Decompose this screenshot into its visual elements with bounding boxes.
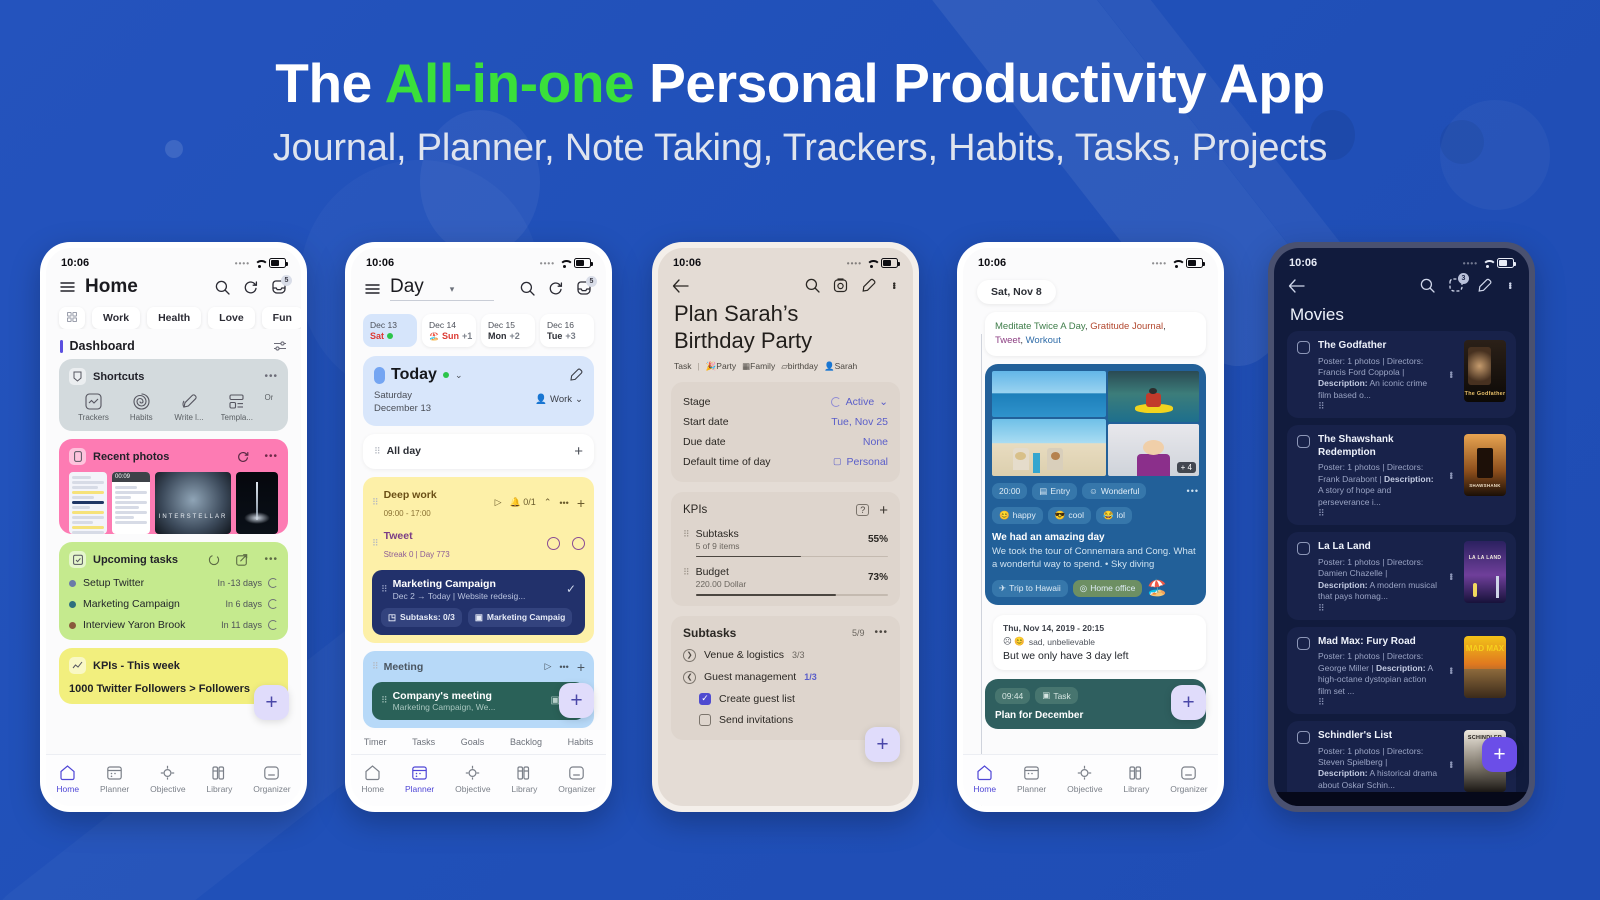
movie-row[interactable]: The Godfather Poster: 1 photos | Directo…	[1287, 331, 1516, 418]
movie-photos: Poster: 1 photos |	[1318, 356, 1384, 366]
inbox-icon[interactable]: 3	[1448, 278, 1464, 293]
emoji-tag[interactable]: 😎 cool	[1048, 507, 1091, 524]
more-options-icon[interactable]: •••	[1446, 761, 1456, 767]
help-icon[interactable]: ?	[856, 504, 869, 516]
photo-thumb[interactable]: 00:09	[112, 472, 150, 534]
screen-planner: 10:06 •••• Day▾ 5 Dec 13 Sat	[351, 248, 606, 806]
open-external-icon[interactable]	[236, 554, 248, 566]
section-accent-bar	[60, 340, 63, 353]
photo-beach[interactable]	[992, 419, 1106, 475]
movies-header: 3 •••	[1274, 272, 1529, 295]
phone-icon	[69, 448, 86, 465]
poster-title: MAD MAX	[1464, 644, 1506, 653]
battery-icon	[269, 258, 286, 268]
subtab-goals[interactable]: Goals	[461, 737, 485, 747]
shortcut-label: Or	[265, 393, 274, 402]
emoji-tag[interactable]: 😂 lol	[1096, 507, 1132, 524]
event-streak: Streak 0 | Day 773	[384, 550, 450, 559]
journal-entry-card-2[interactable]: Thu, Nov 14, 2019 - 20:15 ☹ 😊 sad, unbel…	[993, 615, 1206, 670]
target-icon	[464, 764, 481, 781]
subtask-icon: ◳	[388, 612, 396, 623]
tab-objective[interactable]: Objective	[455, 764, 490, 794]
task-color-dot	[69, 580, 76, 587]
date-pill[interactable]: Dec 14 🏖️Sun+1	[422, 314, 476, 347]
movie-poster[interactable]: SHAWSHANK	[1464, 434, 1506, 496]
sync-icon[interactable]	[243, 280, 258, 295]
marketing-campaign-card[interactable]: ⠿ Marketing Campaign Dec 2 → Today | Web…	[372, 570, 585, 635]
headline-accent: All-in-one	[385, 52, 635, 114]
refresh-icon[interactable]	[237, 451, 249, 463]
more-options-icon[interactable]: •••	[1446, 667, 1456, 673]
drag-handle-icon[interactable]: ⠿	[1318, 700, 1438, 705]
task-progress-icon[interactable]	[268, 578, 278, 588]
beach-emoji-icon: 🏖️	[1147, 578, 1167, 598]
status-bar: 10:06 ••••	[963, 248, 1218, 272]
company-meeting-card[interactable]: ⠿ Company's meeting Marketing Campaign, …	[372, 682, 585, 720]
today-color-pill	[374, 367, 385, 384]
tab-label: Organizer	[1170, 784, 1207, 794]
tab-organizer[interactable]: Organizer	[253, 764, 290, 794]
kpi-sub: 220.00 Dollar	[696, 579, 747, 589]
movie-title: Mad Max: Fury Road	[1318, 636, 1438, 649]
inbox-badge: 5	[281, 275, 292, 286]
drag-handle-icon[interactable]: ⠿	[374, 449, 380, 454]
recent-photos-card[interactable]: Recent photos ••• 00:09 INTERSTELLAR	[59, 439, 288, 534]
add-kpi-icon[interactable]: +	[879, 502, 888, 519]
property-row-due-date[interactable]: Due date None	[683, 432, 888, 452]
more-options-icon[interactable]: •••	[264, 451, 278, 462]
movie-poster[interactable]: MAD MAX	[1464, 636, 1506, 698]
subtab-timer[interactable]: Timer	[364, 737, 387, 747]
meta-type: Task	[674, 361, 691, 371]
menu-icon[interactable]	[365, 283, 380, 295]
status-time: 10:06	[978, 257, 1006, 269]
chip-health[interactable]: Health	[147, 307, 201, 329]
search-icon[interactable]	[215, 280, 230, 295]
more-options-icon[interactable]: •••	[559, 498, 568, 508]
add-all-day-icon[interactable]: +	[574, 443, 583, 460]
status-bar: 10:06 ••••	[658, 248, 913, 272]
task-due: In 11 days	[221, 620, 262, 630]
archive-icon	[1180, 764, 1197, 781]
inbox-badge: 5	[586, 276, 597, 287]
subtask-item-row[interactable]: ✓ Create guest list	[683, 693, 888, 705]
tab-library[interactable]: Library	[206, 764, 232, 794]
checkbox-unchecked[interactable]	[1297, 731, 1310, 744]
entry-location-row[interactable]: ✈Trip to Hawaii ◎Home office 🏖️	[992, 578, 1199, 598]
section-title: Dashboard	[70, 339, 135, 353]
today-tag[interactable]: 👤Work⌄	[535, 394, 583, 405]
habit-toggle-icon[interactable]	[547, 537, 560, 550]
sync-icon[interactable]	[548, 281, 563, 296]
task-name: Interview Yaron Brook	[83, 619, 185, 631]
tab-organizer[interactable]: Organizer	[1170, 764, 1207, 794]
all-day-row[interactable]: ⠿ All day +	[363, 434, 594, 469]
add-icon[interactable]: +	[577, 495, 585, 511]
inbox-icon[interactable]: 5	[271, 280, 287, 295]
meta-birthday[interactable]: ▱birthday	[781, 361, 818, 372]
tracker-icon	[85, 393, 102, 410]
battery-icon	[1497, 258, 1514, 268]
date-pill-date: Dec 16	[547, 320, 587, 330]
movie-desc-label: Description:	[1318, 378, 1368, 388]
chip-fun[interactable]: Fun	[262, 307, 301, 329]
drag-handle-icon[interactable]: ⠿	[372, 500, 378, 505]
date-pill-weekday: Sat	[370, 331, 384, 341]
more-options-icon[interactable]: •••	[1187, 486, 1199, 496]
property-row-start-date[interactable]: Start date Tue, Nov 25	[683, 412, 888, 432]
shortcut-label: Templa...	[221, 413, 253, 422]
shortcut-more[interactable]: Or	[262, 393, 276, 422]
drag-handle-icon[interactable]: ⠿	[683, 570, 689, 575]
movie-row[interactable]: Mad Max: Fury Road Poster: 1 photos | Di…	[1287, 627, 1516, 714]
archive-icon	[263, 764, 280, 781]
task-row[interactable]: Marketing Campaign In 6 days	[69, 598, 278, 610]
day-pill[interactable]: Sat, Nov 8	[977, 280, 1056, 304]
screen-journal: 10:06 •••• Sat, Nov 8 Meditate Twice A D…	[963, 248, 1218, 806]
subtask-group-count: 3/3	[792, 650, 805, 660]
photo-kayak[interactable]	[1108, 371, 1199, 423]
camera-icon[interactable]	[833, 278, 848, 293]
chevron-down-icon[interactable]: ⌄	[455, 370, 463, 381]
entry-type[interactable]: ▤Entry	[1032, 483, 1077, 500]
view-selector-label: Day	[390, 276, 424, 297]
shortcut-trackers[interactable]: Trackers	[71, 393, 116, 422]
trip-icon: ✈	[999, 583, 1006, 594]
today-date-line2: December 13	[374, 403, 431, 414]
event-row[interactable]: ⠿ Deep work 09:00 - 17:00 ▷ 🔔 0/1 ⌃ ••• …	[372, 485, 585, 521]
entry-time[interactable]: 20:00	[992, 483, 1027, 499]
status-dot	[443, 372, 449, 378]
home-icon	[364, 764, 381, 781]
entry-icon: ▤	[1039, 486, 1047, 497]
habits-note[interactable]: Meditate Twice A Day, Gratitude Journal,…	[985, 312, 1206, 356]
tab-label: Planner	[100, 784, 129, 794]
kpis-card[interactable]: KPIs ? + ⠿ Subtasks 5 of 9 items 55% ⠿	[671, 492, 900, 606]
more-options-icon[interactable]: •••	[889, 282, 899, 288]
more-options-icon[interactable]: •••	[1446, 371, 1456, 377]
chevron-down-icon: ▾	[450, 284, 455, 294]
status-time: 10:06	[61, 257, 89, 269]
drag-handle-icon[interactable]: ⠿	[683, 532, 689, 537]
back-icon[interactable]	[672, 279, 689, 293]
checkbox-unchecked[interactable]	[1297, 542, 1310, 555]
phone-mockup-home: 10:06 •••• Home 5 Work	[40, 242, 307, 812]
chip-work[interactable]: Work	[92, 307, 140, 329]
event-row[interactable]: ⠿ Meeting ▷ ••• +	[372, 659, 585, 675]
dashboard-section-header: Dashboard	[46, 329, 301, 359]
collapse-icon[interactable]: ⌃	[544, 497, 552, 508]
event-row[interactable]: ⠿ Tweet Streak 0 | Day 773	[372, 526, 585, 562]
habit-1: Meditate Twice A Day	[995, 321, 1085, 332]
play-icon[interactable]: ▷	[495, 497, 502, 508]
more-options-icon[interactable]: •••	[874, 627, 888, 638]
photo-caption: INTERSTELLAR	[155, 514, 231, 520]
calendar-icon	[411, 764, 428, 781]
page-title: Home	[85, 276, 138, 298]
edit-icon[interactable]	[861, 278, 876, 293]
tab-label: Organizer	[558, 784, 595, 794]
subtask-name: Create guest list	[719, 693, 795, 705]
subtask-group-name: Venue & logistics	[704, 649, 784, 661]
detail-header: •••	[658, 272, 913, 295]
date-pill-extra: +3	[565, 331, 575, 341]
target-icon	[159, 764, 176, 781]
meta-assignee[interactable]: 👤Sarah	[824, 361, 857, 372]
battery-icon	[574, 258, 591, 268]
task-row[interactable]: Setup Twitter In -13 days	[69, 577, 278, 589]
tab-planner[interactable]: Planner	[100, 764, 129, 794]
add-button[interactable]: +	[1171, 685, 1206, 720]
movie-desc-label: Description:	[1318, 768, 1368, 778]
more-options-icon[interactable]: •••	[1446, 472, 1456, 478]
meeting-title: Company's meeting	[393, 690, 496, 702]
emoji-tag[interactable]: 😊 happy	[992, 507, 1043, 524]
poster-title: SHAWSHANK	[1464, 483, 1506, 488]
more-options-icon[interactable]: •••	[1446, 573, 1456, 579]
photo-grid[interactable]: + 4	[992, 371, 1199, 476]
kpi-icon	[69, 657, 86, 674]
drag-handle-icon[interactable]: ⠿	[372, 664, 378, 669]
books-icon	[516, 764, 533, 781]
task-due: In 6 days	[225, 599, 262, 609]
shortcut-habits[interactable]: Habits	[119, 393, 164, 422]
add-icon[interactable]: +	[577, 659, 585, 675]
chip-all-icon[interactable]	[59, 307, 85, 329]
refresh-icon[interactable]	[208, 554, 220, 566]
more-options-icon[interactable]: •••	[264, 554, 278, 565]
task-due: In -13 days	[217, 578, 262, 588]
status-time: 10:06	[366, 257, 394, 269]
drag-handle-icon[interactable]: ⠿	[1318, 404, 1438, 409]
status-bar: 10:06 ••••	[351, 248, 606, 272]
tab-objective[interactable]: Objective	[1067, 764, 1102, 794]
drag-handle-icon[interactable]: ⠿	[372, 541, 378, 546]
app-header: Home 5	[46, 272, 301, 304]
chevron-right-icon[interactable]: ❯	[683, 649, 696, 662]
task-progress-icon[interactable]	[268, 620, 278, 630]
kpi-percent: 55%	[868, 534, 888, 545]
checkbox-unchecked[interactable]	[1297, 637, 1310, 650]
movie-row[interactable]: The Shawshank Redemption Poster: 1 photo…	[1287, 425, 1516, 525]
search-icon[interactable]	[805, 278, 820, 293]
tag-label: Marketing Campaig	[487, 612, 565, 622]
menu-icon[interactable]	[60, 281, 75, 293]
tab-library[interactable]: Library	[1123, 764, 1149, 794]
today-card[interactable]: Today ⌄ SaturdayDecember 13 👤Work⌄	[363, 356, 594, 426]
search-icon[interactable]	[520, 281, 535, 296]
drag-handle-icon[interactable]: ⠿	[381, 698, 387, 703]
hero-heading-group: The All-in-one Personal Productivity App…	[0, 52, 1600, 170]
movie-photos: Poster: 1 photos |	[1318, 651, 1384, 661]
shortcuts-card[interactable]: Shortcuts ••• Trackers Habits Write l...…	[59, 359, 288, 431]
spiral-icon	[133, 393, 150, 410]
date-pill-row[interactable]: Dec 13 Sat Dec 14 🏖️Sun+1 Dec 15 Mon+2 D…	[351, 307, 606, 349]
campaign-tag[interactable]: ◳Subtasks: 0/3	[381, 608, 462, 627]
task-progress-icon[interactable]	[268, 599, 278, 609]
shortcut-label: Trackers	[78, 413, 109, 422]
subtab-tasks[interactable]: Tasks	[412, 737, 435, 747]
status-time: 10:06	[1289, 257, 1317, 269]
subtask-name: Send invitations	[719, 714, 793, 726]
bottom-tab-bar[interactable]: Home Planner Objective Library Organizer	[963, 754, 1218, 806]
more-options-icon[interactable]: •••	[1505, 282, 1515, 288]
checkbox-unchecked[interactable]	[1297, 341, 1310, 354]
subtask-group-row[interactable]: ❮ Guest management 1/3	[683, 671, 888, 684]
screen-home: 10:06 •••• Home 5 Work	[46, 248, 301, 806]
screen-movies: 10:06 •••• 3 ••• Movies The	[1274, 248, 1529, 806]
entry-time[interactable]: 09:44	[995, 688, 1030, 704]
photo-thumb[interactable]	[236, 472, 278, 534]
subtask-group-row[interactable]: ❯ Venue & logistics 3/3	[683, 649, 888, 662]
task-icon: ▣	[1042, 690, 1050, 701]
movie-poster[interactable]: The Godfather	[1464, 340, 1506, 402]
play-icon[interactable]: ▷	[544, 661, 551, 672]
checkbox-unchecked[interactable]	[699, 714, 711, 726]
entry-tag-row[interactable]: 20:00 ▤Entry ☺Wonderful •••	[992, 483, 1199, 500]
tab-label: Home	[973, 784, 996, 794]
today-label: Today	[391, 366, 437, 384]
home-icon	[59, 764, 76, 781]
journal-entry-card[interactable]: + 4 20:00 ▤Entry ☺Wonderful ••• 😊 happy …	[985, 364, 1206, 606]
inbox-icon[interactable]: 5	[576, 281, 592, 296]
entry-heading: Plan for December	[995, 710, 1196, 721]
task-title: Plan Sarah’s Birthday Party	[658, 295, 913, 355]
calendar-icon	[1023, 764, 1040, 781]
movie-row[interactable]: La La Land Poster: 1 photos | Directors:…	[1287, 532, 1516, 619]
photo-overflow-badge[interactable]: + 4	[1177, 462, 1196, 473]
add-button[interactable]: +	[865, 727, 900, 762]
tab-library[interactable]: Library	[511, 764, 537, 794]
task-properties-card[interactable]: Stage Active⌄ Start date Tue, Nov 25 Due…	[671, 382, 900, 482]
meta-party[interactable]: 🎉Party	[706, 361, 736, 372]
habit-toggle-icon[interactable]	[572, 537, 585, 550]
photo-sea[interactable]	[992, 371, 1106, 418]
add-button[interactable]: +	[1482, 737, 1517, 772]
movie-desc: A story of hope and perseverance i...	[1318, 485, 1391, 506]
photo-thumb[interactable]	[69, 472, 107, 534]
drag-handle-icon[interactable]: ⠿	[1318, 606, 1438, 611]
more-options-icon[interactable]: •••	[559, 662, 568, 672]
pencil-icon	[181, 393, 198, 410]
task-name: Setup Twitter	[83, 577, 144, 589]
entry-type[interactable]: ▣Task	[1035, 687, 1078, 704]
task-color-dot	[69, 601, 76, 608]
property-value: None	[863, 436, 888, 448]
tab-organizer[interactable]: Organizer	[558, 764, 595, 794]
subtasks-card[interactable]: Subtasks 5/9 ••• ❯ Venue & logistics 3/3…	[671, 616, 900, 740]
tab-home[interactable]: Home	[56, 764, 79, 794]
back-icon[interactable]	[1288, 279, 1305, 293]
tab-objective[interactable]: Objective	[150, 764, 185, 794]
drag-handle-icon[interactable]: ⠿	[1318, 511, 1438, 516]
subtab-backlog[interactable]: Backlog	[510, 737, 542, 747]
kpi-row[interactable]: ⠿ Budget 220.00 Dollar 73%	[683, 566, 888, 596]
search-icon[interactable]	[1420, 278, 1435, 293]
event-name: Deep work	[384, 489, 437, 501]
tab-home[interactable]: Home	[361, 764, 384, 794]
property-row-default-time[interactable]: Default time of day ▢Personal	[683, 452, 888, 472]
kpi-sub: 5 of 9 items	[696, 541, 740, 551]
drag-handle-icon[interactable]: ⠿	[381, 587, 387, 592]
checkbox-unchecked[interactable]	[1297, 435, 1310, 448]
location-tag[interactable]: ◎Home office	[1073, 580, 1143, 597]
tab-label: Objective	[1067, 784, 1102, 794]
kpi-row[interactable]: ⠿ Subtasks 5 of 9 items 55%	[683, 528, 888, 558]
signal-dots-icon: ••••	[1152, 259, 1167, 268]
bottom-tab-bar[interactable]: Home Planner Objective Library Organizer	[351, 754, 606, 806]
target-icon	[1076, 764, 1093, 781]
entry-heading: We had an amazing day	[992, 532, 1199, 543]
upcoming-tasks-card[interactable]: Upcoming tasks ••• Setup Twitter In -13 …	[59, 542, 288, 640]
kpi-name: Budget	[696, 566, 747, 578]
planner-subtab-row[interactable]: Timer Tasks Goals Backlog Habits	[351, 730, 606, 754]
edit-icon[interactable]	[1477, 278, 1492, 293]
add-button[interactable]: +	[559, 683, 594, 718]
pin-icon: ◎	[1080, 583, 1087, 594]
campaign-tag[interactable]: ▣Marketing Campaig	[468, 608, 572, 627]
date-pill[interactable]: Dec 15 Mon+2	[481, 314, 535, 347]
checklist-icon	[69, 551, 86, 568]
property-label: Stage	[683, 396, 710, 408]
property-row-stage[interactable]: Stage Active⌄	[683, 392, 888, 412]
movie-poster[interactable]: LA LA LAND	[1464, 541, 1506, 603]
category-chip-row[interactable]: Work Health Love Fun F	[46, 304, 301, 329]
entry-emoji-row: 😊 happy 😎 cool 😂 lol	[992, 507, 1199, 524]
photo-gym[interactable]: + 4	[1108, 424, 1199, 476]
tab-home[interactable]: Home	[973, 764, 996, 794]
check-icon[interactable]: ✓	[566, 582, 576, 596]
shortcut-templates[interactable]: Templa...	[214, 393, 259, 422]
filter-icon[interactable]	[273, 340, 287, 352]
tab-planner[interactable]: Planner	[1017, 764, 1046, 794]
meta-family[interactable]: ▦Family	[742, 361, 775, 372]
entry-date: Thu, Nov 14, 2019 - 20:15	[1003, 623, 1196, 633]
tab-label: Planner	[1017, 784, 1046, 794]
habit-4: Workout	[1026, 335, 1061, 346]
chip-love[interactable]: Love	[208, 307, 255, 329]
page-title: Movies	[1274, 295, 1529, 331]
add-button[interactable]: +	[254, 685, 289, 720]
entry-mood[interactable]: ☺Wonderful	[1082, 483, 1146, 499]
tab-planner[interactable]: Planner	[405, 764, 434, 794]
photo-strip[interactable]: 00:09 INTERSTELLAR	[69, 472, 278, 534]
system-nav-bar	[1274, 792, 1529, 806]
subtask-item-row[interactable]: Send invitations	[683, 714, 888, 726]
photo-thumb-interstellar[interactable]: INTERSTELLAR	[155, 472, 231, 534]
template-icon	[228, 393, 245, 410]
property-value: Active	[846, 396, 875, 408]
movie-desc-label: Description:	[1318, 580, 1368, 590]
kpi-progress-bar	[696, 556, 888, 558]
edit-icon[interactable]	[569, 368, 583, 382]
checkbox-checked[interactable]: ✓	[699, 693, 711, 705]
more-options-icon[interactable]: •••	[264, 371, 278, 382]
task-row[interactable]: Interview Yaron Brook In 11 days	[69, 619, 278, 631]
subtab-habits[interactable]: Habits	[568, 737, 594, 747]
yellow-event-block[interactable]: ⠿ Deep work 09:00 - 17:00 ▷ 🔔 0/1 ⌃ ••• …	[363, 477, 594, 643]
kpi-line: 1000 Twitter Followers > Followers	[69, 683, 278, 695]
date-pill-selected[interactable]: Dec 13 Sat	[363, 314, 417, 347]
view-selector[interactable]: Day▾	[390, 276, 494, 301]
bottom-tab-bar[interactable]: Home Planner Objective Library Organizer	[46, 754, 301, 806]
date-pill[interactable]: Dec 16 Tue+3	[540, 314, 594, 347]
checklist-icon: ▣	[475, 612, 483, 623]
date-pill-weekday: Mon	[488, 331, 507, 341]
chevron-down-icon[interactable]: ❮	[683, 671, 696, 684]
location-tag[interactable]: ✈Trip to Hawaii	[992, 580, 1068, 597]
shortcut-write[interactable]: Write l...	[167, 393, 212, 422]
